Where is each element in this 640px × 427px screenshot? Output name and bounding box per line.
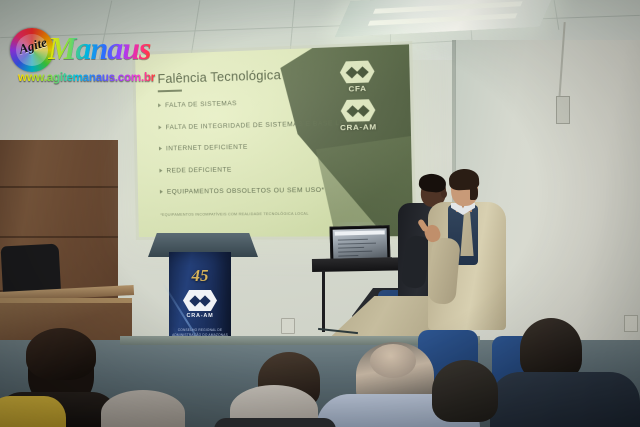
laptop-display: [333, 228, 388, 260]
watermark-brand: Manaus: [48, 30, 151, 67]
speaker-two-sideburn: [470, 186, 478, 200]
cfa-logo-label: CFA: [327, 83, 388, 94]
audience-member-head: [432, 360, 498, 422]
table-leg: [322, 270, 325, 332]
title-underline: [158, 90, 182, 92]
wall-outlet-icon: [624, 315, 638, 332]
bullet-text: REDE DEFICIENTE: [166, 166, 232, 174]
hexagon-diamond-icon: [340, 60, 375, 83]
slide-logo-group: CFA CRA-AM: [327, 60, 389, 139]
speaker-two-arm: [427, 237, 461, 305]
bullet-text: FALTA DE SISTEMAS: [165, 100, 237, 109]
audience-member-torso: [214, 418, 336, 427]
photo-canvas: Falência Tecnológica FALTA DE SISTEMAS F…: [0, 0, 640, 427]
audience-member-hair: [26, 328, 96, 380]
cable-junction-box: [556, 96, 570, 124]
hexagon-diamond-icon: [183, 290, 217, 311]
bullet-arrow-icon: [159, 168, 162, 172]
bullet-text: INTERNET DEFICIENTE: [166, 144, 248, 153]
bullet-text: EQUIPAMENTOS OBSOLETOS OU SEM USO*: [167, 187, 325, 196]
laptop-window-titlebar: [335, 230, 385, 235]
list-item: REDE DEFICIENTE: [159, 163, 378, 174]
audience-member-bald-spot: [370, 344, 416, 378]
watermark: Agite Manaus www.agitemanaus.com.br: [4, 26, 204, 88]
slide-footnote: *EQUIPAMENTOS INCOMPATÍVEIS COM REALIDAD…: [160, 212, 308, 217]
cra-am-logo-label: CRA-AM: [328, 122, 389, 133]
list-item: INTERNET DEFICIENTE: [159, 141, 378, 153]
bullet-arrow-icon: [159, 125, 162, 129]
watermark-url: www.agitemanaus.com.br: [18, 72, 155, 84]
audience-member-head: [520, 318, 582, 380]
list-item: EQUIPAMENTOS OBSOLETOS OU SEM USO*: [160, 186, 380, 196]
speaker-one-ear: [441, 190, 447, 198]
wall-outlet-icon: [281, 318, 295, 334]
bullet-arrow-icon: [160, 190, 163, 194]
podium-logo-label: CRA-AM: [169, 313, 231, 319]
bullet-arrow-icon: [158, 104, 161, 108]
audience-member-torso: [490, 372, 640, 427]
hexagon-diamond-icon: [341, 99, 376, 122]
laptop-open-icon[interactable]: [330, 225, 391, 262]
bullet-arrow-icon: [159, 147, 162, 151]
anniversary-number: 45: [169, 266, 231, 286]
audience-member-torso: [0, 396, 66, 427]
